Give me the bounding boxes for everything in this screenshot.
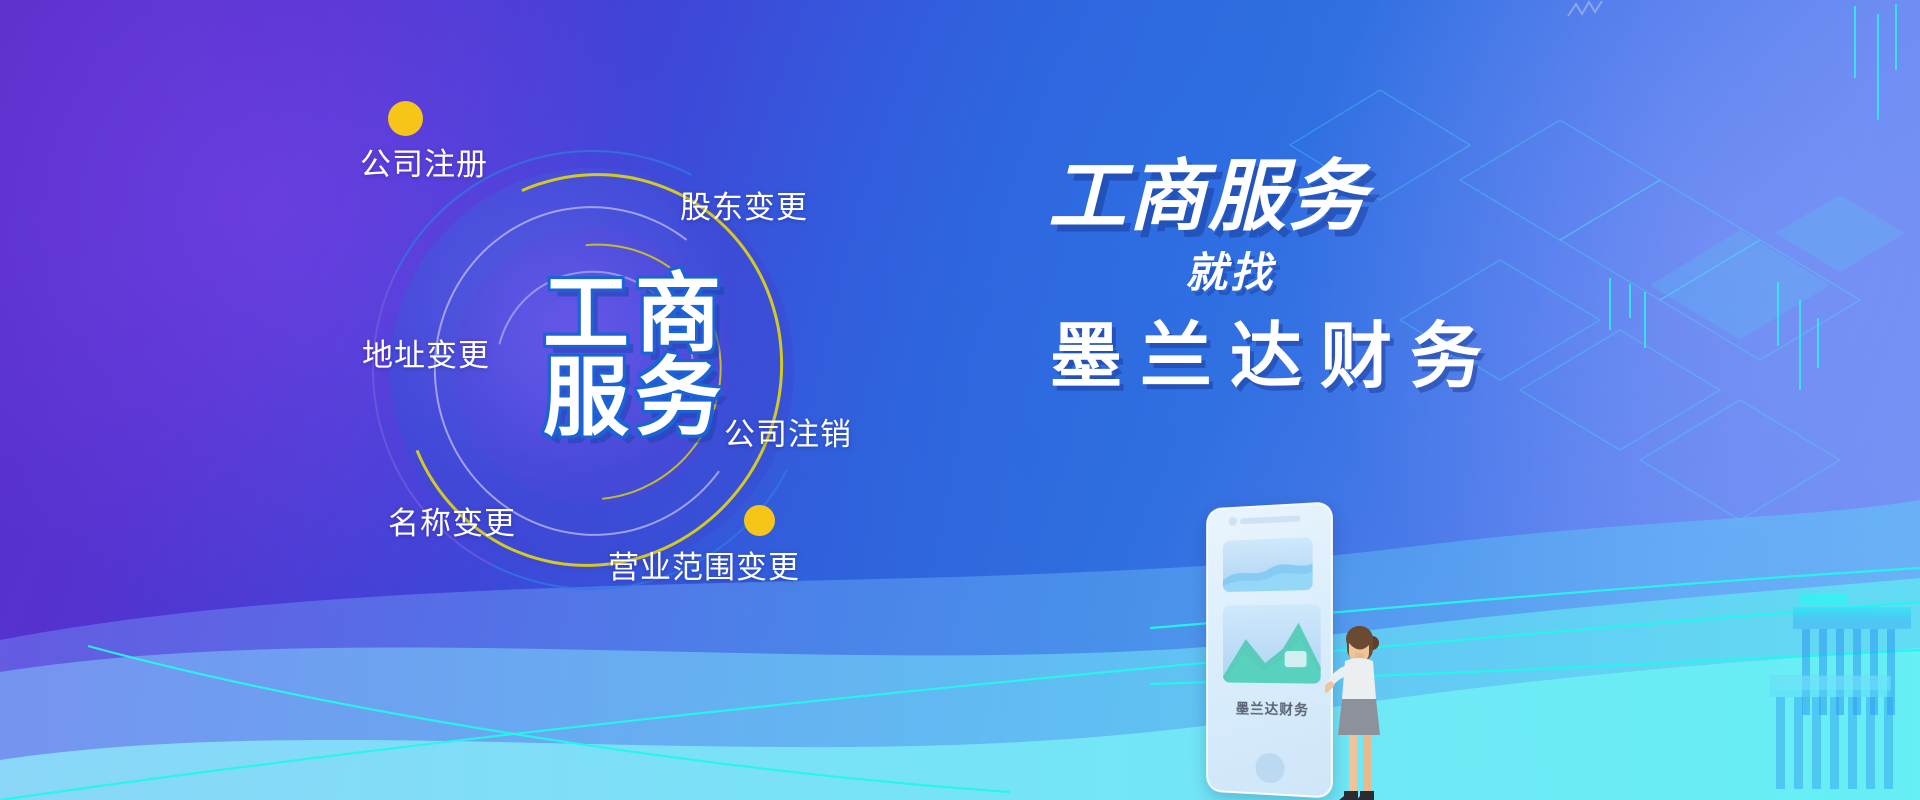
smartphone-mockup: 墨兰达财务 bbox=[1206, 501, 1333, 798]
center-wordmark-line2: 服务 bbox=[520, 356, 750, 440]
service-label-company-registration: 公司注册 bbox=[360, 139, 488, 184]
promo-banner: 工商 服务 公司注册 股东变更 地址变更 公司注销 名称变更 营业范围变更 工商… bbox=[0, 0, 1920, 800]
phone-app-label: 墨兰达财务 bbox=[1219, 698, 1327, 720]
phone-home-button-icon bbox=[1255, 753, 1284, 784]
phone-card-top bbox=[1223, 537, 1313, 592]
background-geometry bbox=[0, 0, 1920, 800]
service-label-shareholder-change: 股东变更 bbox=[680, 182, 808, 227]
phone-card-chart bbox=[1223, 604, 1321, 684]
service-label-name-change: 名称变更 bbox=[388, 498, 516, 543]
banner-brand-name: 墨兰达财务 bbox=[1050, 320, 1500, 392]
service-label-company-deregistration: 公司注销 bbox=[724, 409, 852, 454]
phone-speaker-icon bbox=[1240, 515, 1301, 524]
person-illustration bbox=[1325, 623, 1385, 800]
phone-camera-icon bbox=[1229, 517, 1238, 526]
accent-dot-bottom bbox=[744, 505, 775, 536]
phone-person-illustration: 墨兰达财务 bbox=[1175, 495, 1445, 800]
accent-dot-top bbox=[388, 101, 423, 136]
banner-headline: 工商服务 bbox=[1048, 158, 1368, 236]
service-label-business-scope-change: 营业范围变更 bbox=[608, 542, 800, 587]
service-label-address-change: 地址变更 bbox=[362, 330, 490, 375]
banner-subline: 就找 bbox=[1185, 252, 1275, 294]
center-wordmark: 工商 服务 bbox=[520, 272, 750, 441]
